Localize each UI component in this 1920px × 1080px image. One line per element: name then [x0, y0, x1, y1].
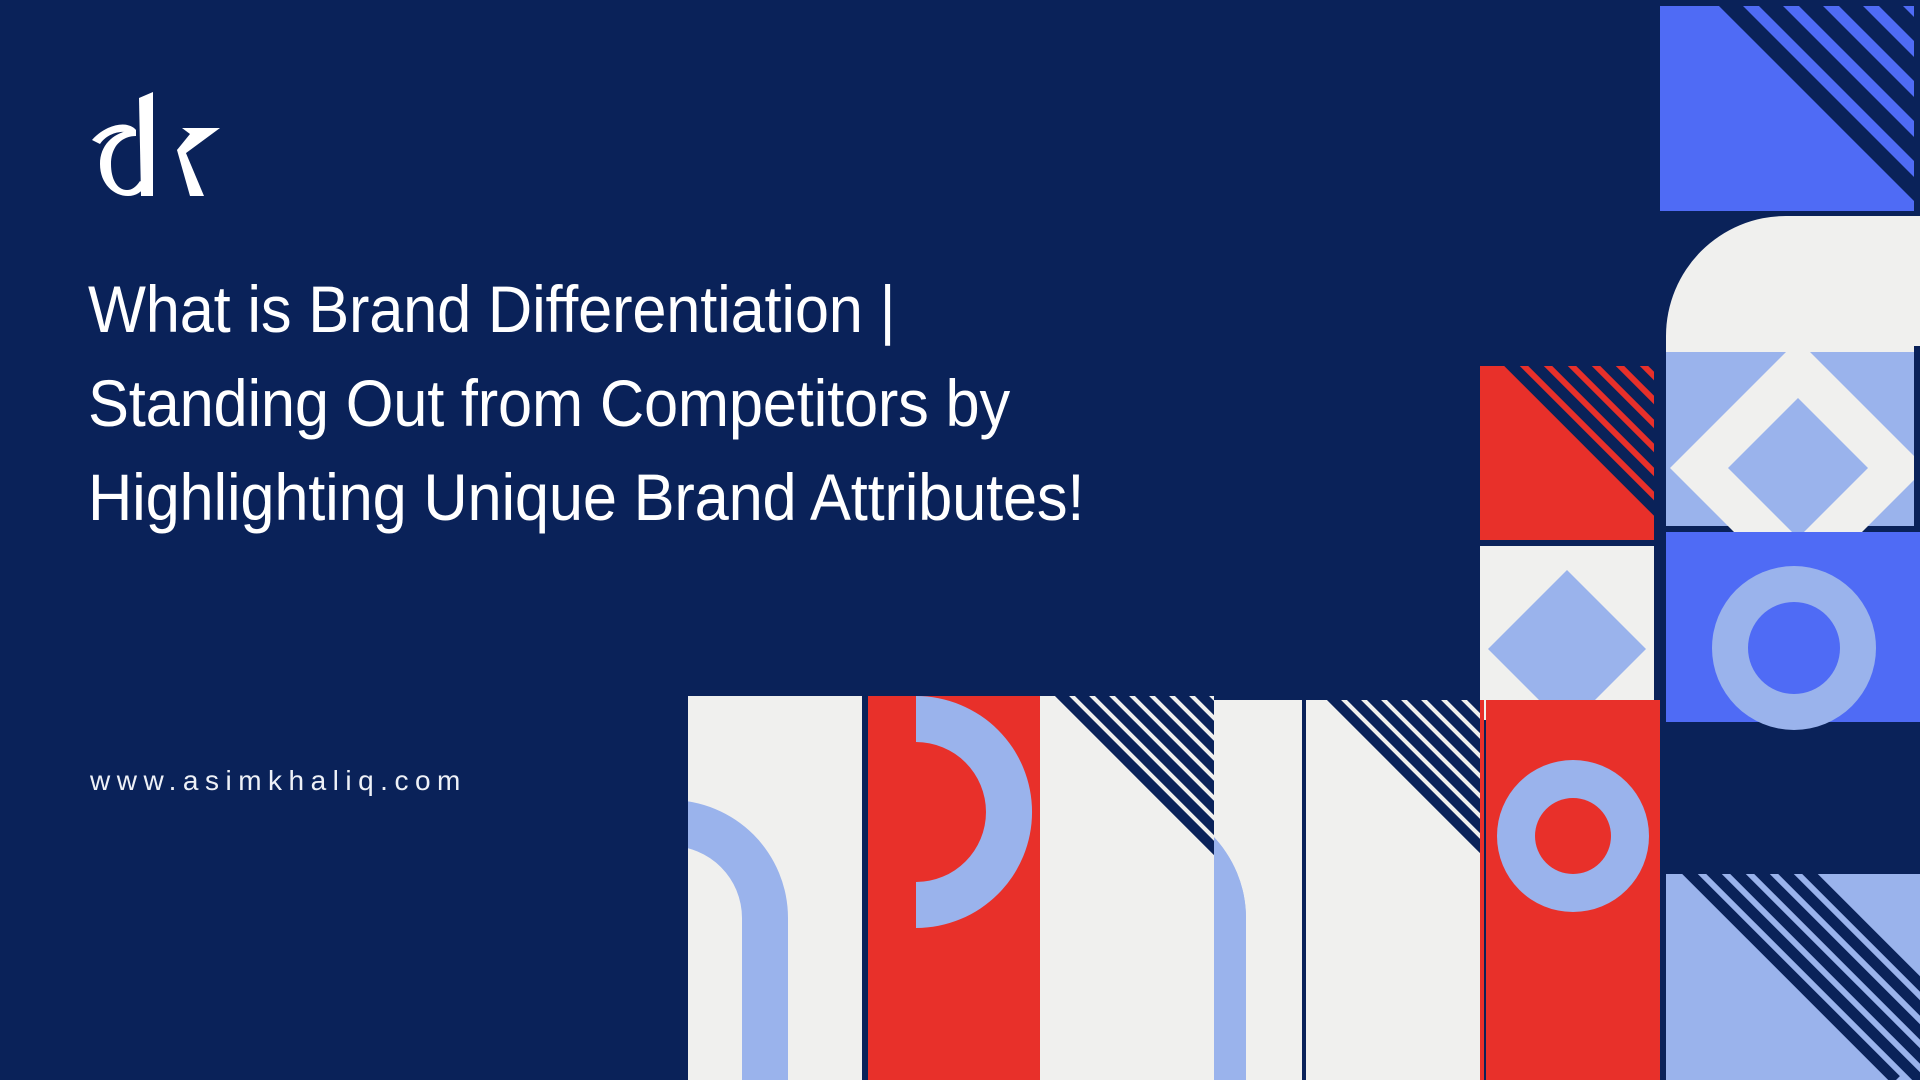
geometric-tile-pattern [1180, 0, 1920, 1080]
grid-seam [1914, 346, 1920, 536]
tile-striped-blue [1660, 0, 1920, 255]
website-url: www.asimkhaliq.com [90, 765, 467, 797]
tile-diamond-outline [1666, 340, 1920, 596]
ak-monogram-logo [78, 84, 228, 204]
tile-quarter-ring-white [680, 696, 862, 1080]
tile-half-ring-on-red [1310, 700, 1484, 1080]
tile-striped-lightblue [1666, 860, 1920, 1080]
tile-half-ring-red [868, 696, 1042, 1080]
tile-rounded-block-white [1666, 216, 1920, 480]
pattern-svg [1180, 0, 1920, 1080]
page-title: What is Brand Differentiation | Standing… [88, 262, 1130, 544]
ak-monogram-icon [78, 84, 228, 204]
tile-diamond-lightblue [1480, 546, 1654, 728]
tile-ring-on-red [1486, 700, 1660, 1080]
tile-quarter-circle-navy [1792, 352, 1920, 480]
bottom-left-tiles [680, 688, 1240, 1080]
tile-striped-white [1306, 686, 1650, 1080]
tile-ring-on-blue [1666, 532, 1920, 730]
tile-striped-red [1480, 350, 1824, 540]
tile-striped-white-2 [1040, 688, 1240, 1080]
